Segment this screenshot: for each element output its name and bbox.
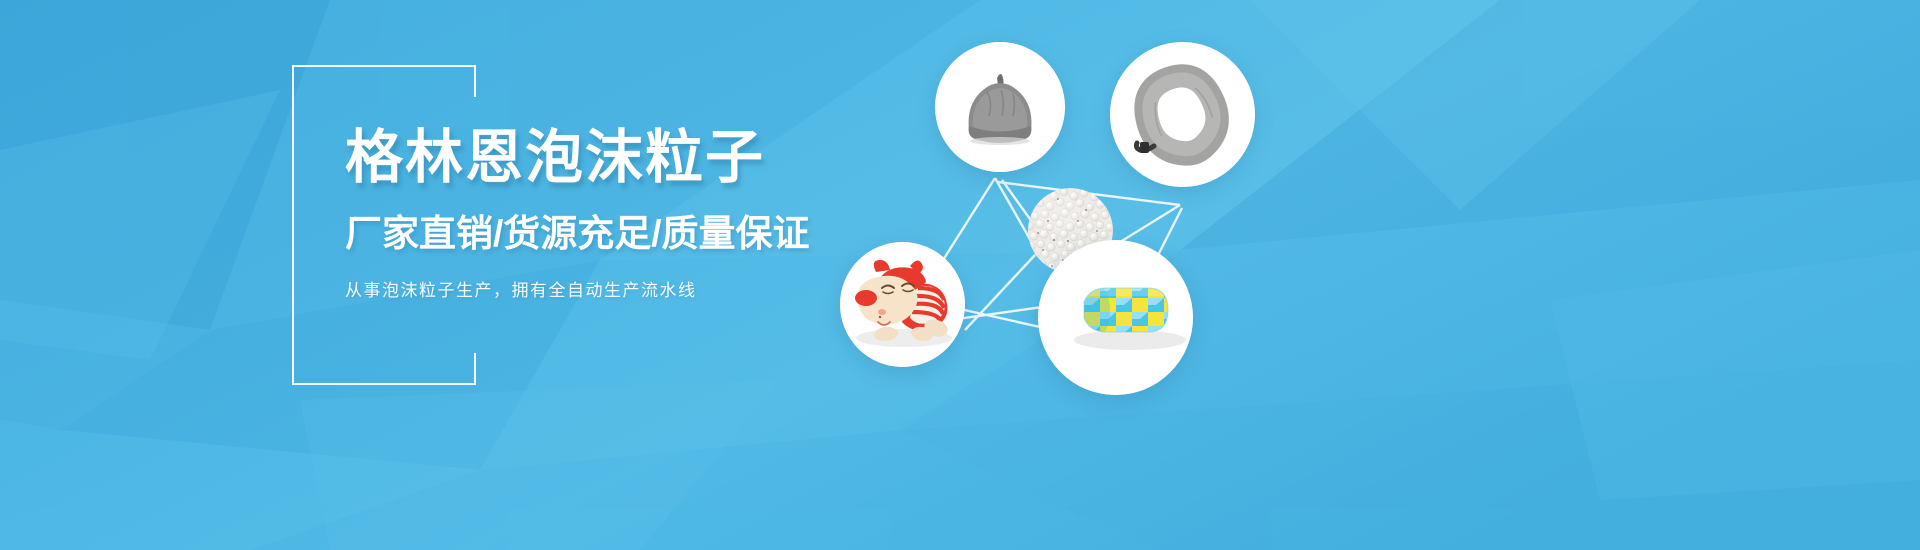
- headline-block: 格林恩泡沫粒子 厂家直销/货源充足/质量保证 从事泡沫粒子生产，拥有全自动生产流…: [345, 128, 810, 301]
- product-node-neck-pillow[interactable]: [1110, 42, 1255, 187]
- brand-title: 格林恩泡沫粒子: [345, 128, 810, 189]
- u-neck-pillow-icon: [1110, 42, 1255, 187]
- promo-banner: 格林恩泡沫粒子 厂家直销/货源充足/质量保证 从事泡沫粒子生产，拥有全自动生产流…: [0, 0, 1920, 550]
- product-node-plush-pig-pillow[interactable]: [840, 242, 965, 367]
- frame-left-line: [292, 65, 294, 385]
- product-node-bean-bag-chair[interactable]: [935, 42, 1065, 172]
- plush-pig-pillow-icon: [840, 242, 965, 367]
- bean-bag-chair-icon: [935, 42, 1065, 172]
- brand-subtitle: 厂家直销/货源充足/质量保证: [345, 203, 810, 257]
- product-network: [820, 0, 1920, 550]
- frame-right-bottom-line: [474, 353, 476, 385]
- cube-bolster-pillow-icon: [1038, 240, 1193, 395]
- frame-bottom-line: [292, 383, 476, 385]
- frame-top-line: [292, 65, 476, 67]
- brand-tagline: 从事泡沫粒子生产，拥有全自动生产流水线: [345, 276, 810, 301]
- frame-right-top-line: [474, 65, 476, 97]
- product-node-cube-bolster-pillow[interactable]: [1038, 240, 1193, 395]
